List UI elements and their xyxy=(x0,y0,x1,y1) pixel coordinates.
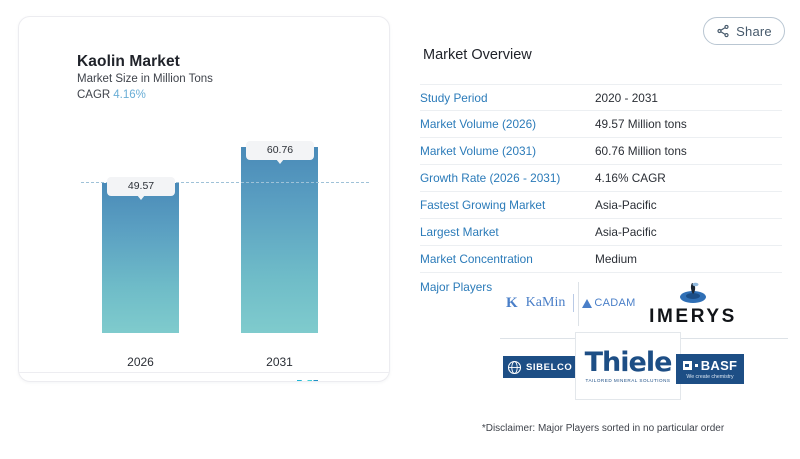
table-row: Market Volume (2026) 49.57 Million tons xyxy=(420,111,782,138)
table-row: Growth Rate (2026 - 2031) 4.16% CAGR xyxy=(420,165,782,192)
basf-wordmark: BASF xyxy=(683,358,738,373)
market-overview-table: Study Period 2020 - 2031 Market Volume (… xyxy=(420,84,782,300)
bar-2031[interactable] xyxy=(241,147,318,333)
row-label: Study Period xyxy=(420,91,595,105)
thiele-tagline: TAILORED MINERAL SOLUTIONS xyxy=(586,378,671,383)
row-value: 2020 - 2031 xyxy=(595,91,658,105)
major-players-logos: K KaMin CADAM IMERYS xyxy=(500,282,788,402)
row-value: Medium xyxy=(595,252,637,266)
bar-area xyxy=(19,17,390,333)
bar-value-label-2026: 49.57 xyxy=(107,177,175,196)
row-value: Asia-Pacific xyxy=(595,198,657,212)
x-axis-label-2026: 2026 xyxy=(102,355,179,369)
row-label: Market Volume (2031) xyxy=(420,144,595,158)
table-row: Market Concentration Medium xyxy=(420,246,782,273)
basf-dot-icon xyxy=(695,364,698,367)
row-value: 49.57 Million tons xyxy=(595,117,687,131)
basf-label: BASF xyxy=(701,358,738,373)
table-row: Study Period 2020 - 2031 xyxy=(420,84,782,111)
imerys-swirl-icon xyxy=(676,282,710,304)
row-value: 60.76 Million tons xyxy=(595,144,687,158)
disclaimer-text: *Disclaimer: Major Players sorted in no … xyxy=(422,423,784,434)
kamin-k-mark-icon: K xyxy=(506,295,518,312)
row-label: Growth Rate (2026 - 2031) xyxy=(420,171,595,185)
row-label: Fastest Growing Market xyxy=(420,198,595,212)
basf-logo: BASF We create chemistry xyxy=(676,354,744,384)
market-overview-title: Market Overview xyxy=(423,47,532,63)
thiele-logo: Thiele TAILORED MINERAL SOLUTIONS xyxy=(575,332,681,400)
kamin-cadam-logo: K KaMin CADAM xyxy=(506,294,636,312)
table-row: Largest Market Asia-Pacific xyxy=(420,219,782,246)
row-value: 4.16% CAGR xyxy=(595,171,666,185)
bar-chart-plot: 49.57 60.76 2026 2031 xyxy=(19,17,390,357)
kamin-cadam-divider xyxy=(573,294,574,312)
sibelco-label: SIBELCO xyxy=(526,362,572,373)
table-row: Fastest Growing Market Asia-Pacific xyxy=(420,192,782,219)
row-value: Asia-Pacific xyxy=(595,225,657,239)
share-button-label: Share xyxy=(736,24,772,39)
basf-tagline: We create chemistry xyxy=(686,374,733,380)
row-label: Market Concentration xyxy=(420,252,595,266)
imerys-logo: IMERYS xyxy=(628,282,758,328)
cadam-triangle-icon xyxy=(582,299,592,308)
bar-2026[interactable] xyxy=(102,183,179,333)
mordor-intelligence-logo-icon xyxy=(297,380,319,382)
share-button[interactable]: Share xyxy=(703,17,785,45)
imerys-label: IMERYS xyxy=(628,306,758,328)
x-axis-label-2031: 2031 xyxy=(241,355,318,369)
source-divider xyxy=(19,372,390,373)
thiele-label: Thiele xyxy=(585,349,672,376)
table-row: Market Volume (2031) 60.76 Million tons xyxy=(420,138,782,165)
row-label: Market Volume (2026) xyxy=(420,117,595,131)
share-nodes-icon xyxy=(716,24,730,38)
chart-card: Kaolin Market Market Size in Million Ton… xyxy=(18,16,390,382)
row-label: Largest Market xyxy=(420,225,595,239)
bar-value-label-2031: 60.76 xyxy=(246,141,314,160)
sibelco-globe-icon xyxy=(507,360,522,375)
basf-square-icon xyxy=(683,361,692,370)
report-snapshot: Share Kaolin Market Market Size in Milli… xyxy=(0,0,800,459)
kamin-label: KaMin xyxy=(526,295,566,311)
